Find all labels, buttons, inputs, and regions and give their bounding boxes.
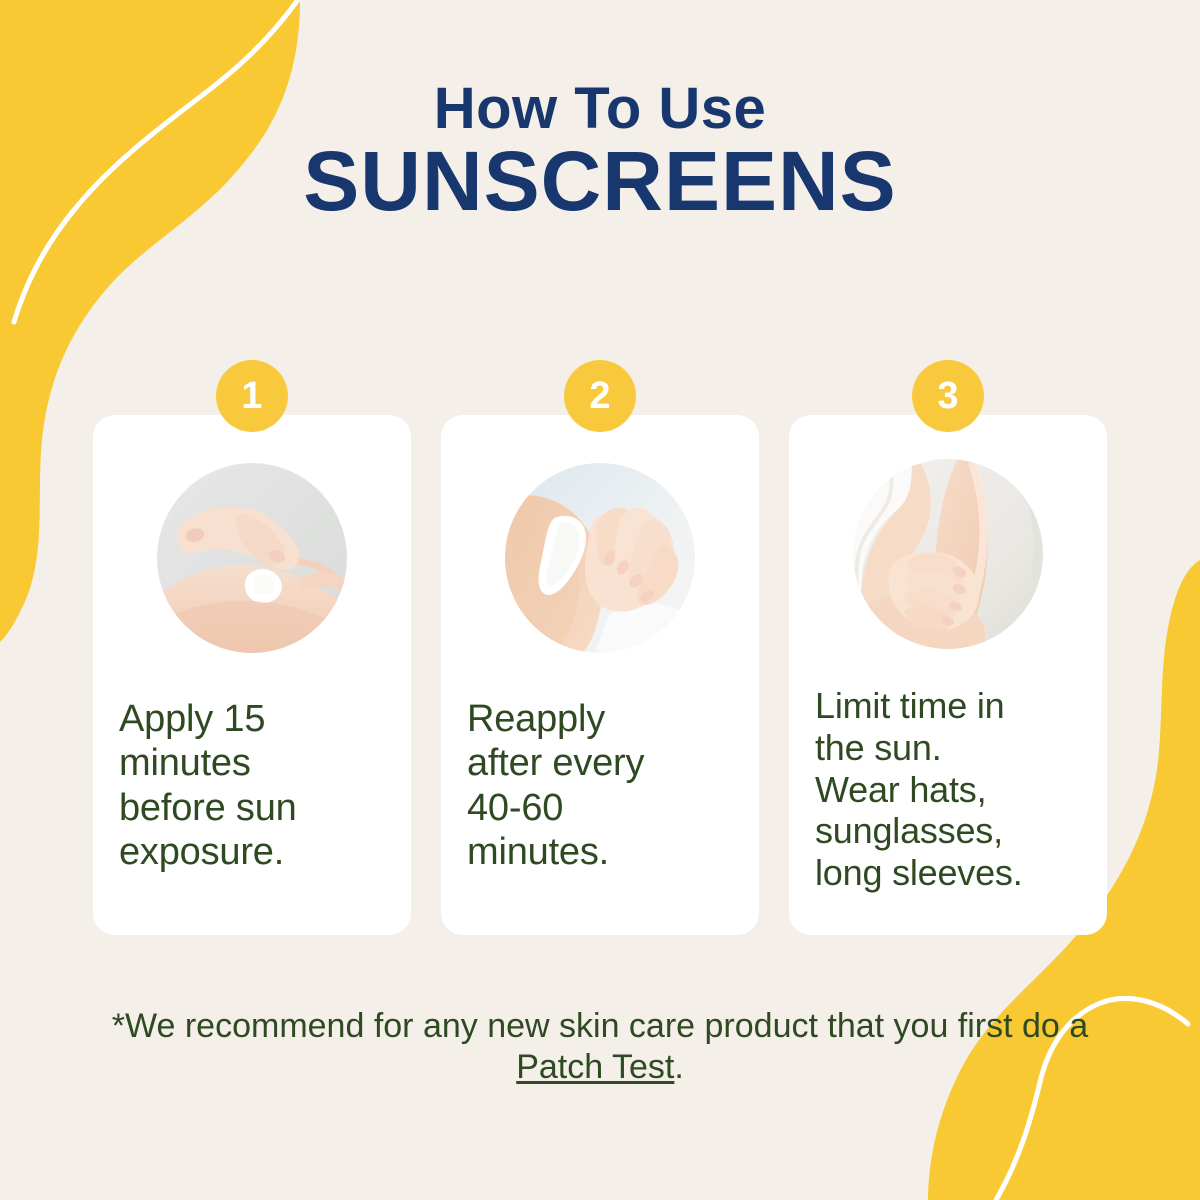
step-3-text: Limit time in the sun. Wear hats, sungla… <box>815 685 1081 894</box>
step-badge-2: 2 <box>564 360 636 432</box>
step-1-photo <box>157 463 347 653</box>
step-2-photo <box>505 463 695 653</box>
step-card-3: 3 <box>789 415 1107 935</box>
page-header: How To Use SUNSCREENS <box>0 78 1200 227</box>
step-card-1: 1 <box>93 415 411 935</box>
step-card-3-body: Limit time in the sun. Wear hats, sungla… <box>789 415 1107 935</box>
step-2-text: Reapply after every 40-60 minutes. <box>467 697 733 875</box>
footer-text-part1: *We recommend for any new skin care prod… <box>112 1007 1088 1045</box>
step-card-2-body: Reapply after every 40-60 minutes. <box>441 415 759 935</box>
hand-cream-palm-illustration <box>157 463 347 653</box>
title-line-2: SUNSCREENS <box>0 137 1200 226</box>
step-card-1-body: Apply 15 minutes before sun exposure. <box>93 415 411 935</box>
patch-test-link[interactable]: Patch Test <box>516 1048 674 1086</box>
step-badge-1: 1 <box>216 360 288 432</box>
woman-touching-arm-illustration <box>853 459 1043 649</box>
footer-note: *We recommend for any new skin care prod… <box>0 1006 1200 1089</box>
hand-cream-shoulder-illustration <box>505 463 695 653</box>
steps-row: 1 <box>93 415 1107 935</box>
step-card-2: 2 <box>441 415 759 935</box>
step-badge-3: 3 <box>912 360 984 432</box>
infographic-poster: How To Use SUNSCREENS 1 <box>0 0 1200 1200</box>
title-line-1: How To Use <box>0 78 1200 139</box>
step-3-photo <box>853 459 1043 649</box>
step-1-text: Apply 15 minutes before sun exposure. <box>119 697 385 875</box>
footer-text-part2: . <box>674 1048 683 1086</box>
